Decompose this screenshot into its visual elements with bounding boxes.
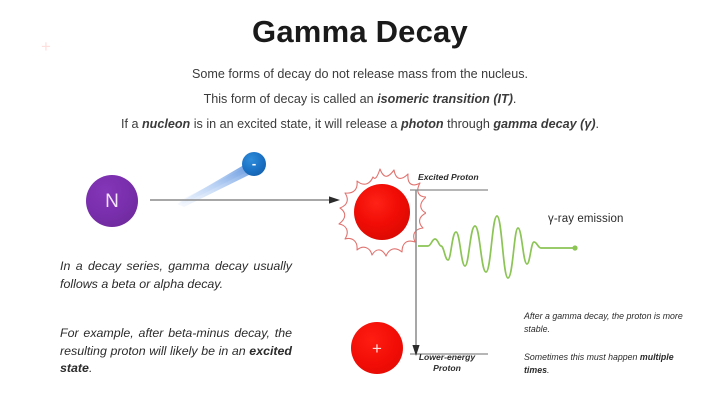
note-proton-stability: After a gamma decay, the proton is more … [524, 310, 692, 336]
intro-line-3: If a nucleon is in an excited state, it … [0, 117, 720, 132]
intro-line-2-emphasis: isomeric transition (IT) [377, 92, 513, 106]
body-paragraph-1-text: In a decay series, gamma decay usually f… [60, 259, 292, 291]
electron-particle: - [242, 152, 266, 176]
intro-line-3-part-b: is in an excited state, it will release … [190, 117, 401, 131]
excited-proton-label: Excited Proton [418, 172, 479, 183]
intro-line-1-text: Some forms of decay do not release mass … [192, 67, 528, 81]
lower-energy-proton-charge-symbol: + [372, 340, 382, 357]
lower-energy-proton-particle: + [351, 322, 403, 374]
note-multiple-times: Sometimes this must happen multiple time… [524, 351, 692, 377]
neutron-particle: N [86, 175, 138, 227]
intro-line-2-suffix: . [513, 92, 517, 106]
excited-proton-charge-symbol: + [0, 0, 92, 92]
intro-line-3-part-a: If a [121, 117, 142, 131]
decay-arrow-icon [150, 192, 340, 208]
lower-energy-proton-label: Lower-energy Proton [414, 352, 480, 373]
note-2-part-b: . [547, 365, 549, 375]
note-2-part-a: Sometimes this must happen [524, 352, 640, 362]
neutron-symbol: N [105, 192, 119, 211]
intro-line-3-emphasis-photon: photon [401, 117, 444, 131]
intro-line-2: This form of decay is called an isomeric… [0, 92, 720, 107]
body-paragraph-decay-series: In a decay series, gamma decay usually f… [60, 258, 292, 293]
intro-line-2-prefix: This form of decay is called an [204, 92, 378, 106]
body-paragraph-beta-minus-example: For example, after beta-minus decay, the… [60, 325, 292, 378]
intro-line-3-emphasis-gamma-decay: gamma decay (γ) [493, 117, 595, 131]
intro-line-1: Some forms of decay do not release mass … [0, 67, 720, 82]
intro-line-3-part-c: through [444, 117, 494, 131]
body-paragraph-2-part-b: . [89, 361, 92, 375]
intro-line-3-emphasis-nucleon: nucleon [142, 117, 190, 131]
lower-energy-proton-label-line-2: Proton [433, 363, 461, 373]
note-1-text: After a gamma decay, the proton is more … [524, 311, 683, 334]
lower-energy-proton-label-line-1: Lower-energy [419, 352, 475, 362]
gamma-ray-emission-label: γ-ray emission [548, 213, 624, 225]
intro-line-3-part-d: . [596, 117, 600, 131]
page-title: Gamma Decay [0, 14, 720, 50]
electron-charge-symbol: - [252, 157, 256, 170]
gamma-decay-slide: Gamma Decay Some forms of decay do not r… [0, 0, 720, 404]
